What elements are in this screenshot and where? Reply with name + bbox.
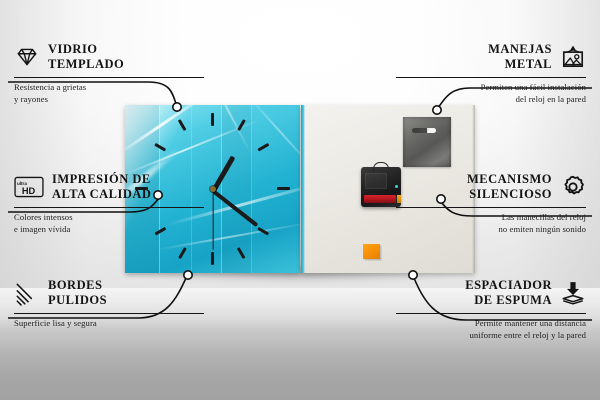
callout-desc-line2: e imagen vívida	[14, 224, 70, 234]
callout-espaciador-de-espuma[interactable]: ESPACIADOR DE ESPUMA Permite mantener un…	[396, 278, 586, 342]
foam-spacer	[363, 244, 380, 259]
callout-title-line1: MECANISMO	[467, 172, 552, 186]
callout-title-line1: ESPACIADOR	[465, 278, 552, 292]
callout-rule	[14, 313, 204, 314]
back-panel-glass-edge	[301, 105, 305, 273]
callout-title-line1: MANEJAS	[488, 42, 552, 56]
gear-icon	[560, 174, 586, 200]
callout-title-line2: PULIDOS	[48, 293, 107, 307]
foam-spacer-icon	[560, 280, 586, 306]
clock-mechanism	[361, 167, 401, 207]
picture-hanger-icon	[560, 44, 586, 70]
callout-desc-line1: Superficie lisa y segura	[14, 318, 97, 328]
callout-desc-line1: Permiten una fácil instalación	[481, 82, 586, 92]
callout-title-line1: IMPRESIÓN DE	[52, 172, 151, 186]
callout-title-line1: VIDRIO	[48, 42, 98, 56]
polished-edges-icon	[14, 280, 40, 306]
callout-rule	[14, 207, 204, 208]
callout-bordes-pulidos[interactable]: BORDES PULIDOS Superficie lisa y segura	[14, 278, 204, 330]
callout-rule	[396, 207, 586, 208]
infographic-stage: VIDRIO TEMPLADO Resistencia a grietas y …	[0, 0, 600, 400]
callout-impresion-alta-calidad[interactable]: ultra HD IMPRESIÓN DE ALTA CALIDAD Color…	[14, 172, 204, 236]
callout-desc-line1: Las manecillas del reloj	[502, 212, 586, 222]
clock-second-hand	[212, 190, 213, 250]
callout-desc-line2: y rayones	[14, 94, 48, 104]
callout-rule	[396, 77, 586, 78]
callout-desc-line1: Permite mantener una distancia	[475, 318, 586, 328]
callout-title-line2: METAL	[505, 57, 552, 71]
callout-desc-line2: uniforme entre el reloj y la pared	[470, 330, 587, 340]
mechanism-hanger-loop	[373, 162, 389, 173]
callout-desc-line2: del reloj en la pared	[516, 94, 586, 104]
callout-title-line2: TEMPLADO	[48, 57, 124, 71]
callout-manejas-metal[interactable]: MANEJAS METAL Permiten una fácil instala…	[396, 42, 586, 106]
callout-desc-line2: no emiten ningún sonido	[498, 224, 586, 234]
ultra-hd-icon: ultra HD	[14, 175, 44, 199]
callout-rule	[396, 313, 586, 314]
clock-center-cap	[210, 186, 216, 192]
battery	[364, 195, 396, 203]
callout-title-line2: ALTA CALIDAD	[52, 187, 151, 201]
hanger-keyhole-slot	[412, 128, 436, 133]
callout-mecanismo-silencioso[interactable]: MECANISMO SILENCIOSO Las manecillas del …	[396, 172, 586, 236]
callout-vidrio-templado[interactable]: VIDRIO TEMPLADO Resistencia a grietas y …	[14, 42, 204, 106]
callout-desc-line1: Resistencia a grietas	[14, 82, 86, 92]
callout-title-line1: BORDES	[48, 278, 102, 292]
callout-title-line2: DE ESPUMA	[474, 293, 552, 307]
svg-text:HD: HD	[22, 186, 36, 196]
diamond-icon	[14, 44, 40, 70]
metal-hanger-plate	[403, 117, 451, 167]
callout-rule	[14, 77, 204, 78]
callout-desc-line1: Colores intensos	[14, 212, 73, 222]
callout-title-line2: SILENCIOSO	[469, 187, 552, 201]
